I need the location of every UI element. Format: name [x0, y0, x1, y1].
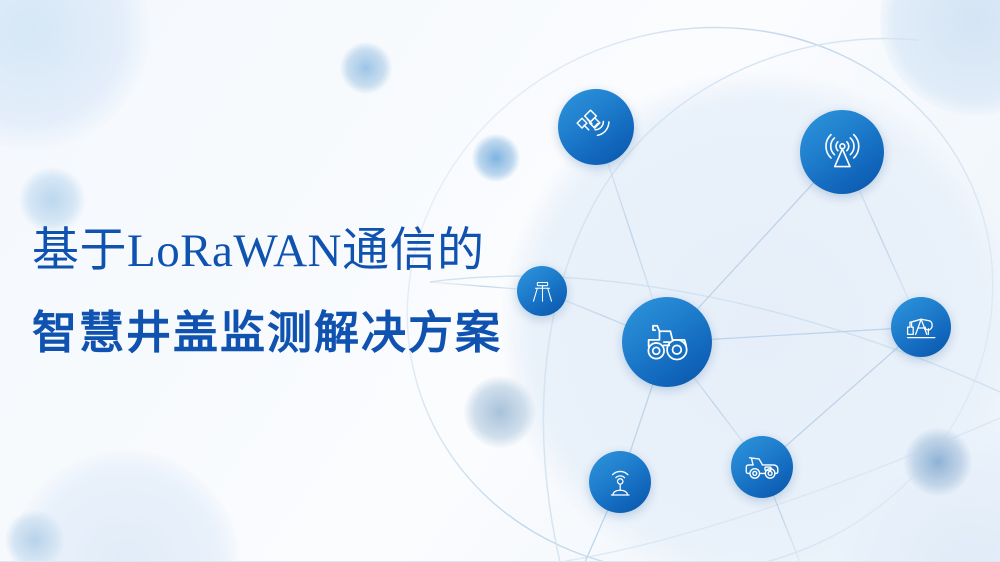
title-line-1: 基于LoRaWAN通信的: [32, 228, 502, 275]
node-antenna[interactable]: [800, 110, 884, 194]
survey-tripod-icon: [527, 276, 558, 307]
node-harvester[interactable]: [731, 436, 793, 498]
radio-tower-icon: [818, 128, 867, 177]
node-satellite[interactable]: [558, 89, 634, 165]
title-block: 基于LoRaWAN通信的 智慧井盖监测解决方案: [32, 228, 502, 355]
node-sensor[interactable]: [589, 451, 651, 513]
harvester-icon: [742, 447, 783, 488]
title-line-2: 智慧井盖监测解决方案: [32, 310, 502, 355]
tractor-icon: [641, 316, 693, 368]
node-pumpjack[interactable]: [891, 297, 951, 357]
link-pumpjack-harvester: [762, 327, 921, 467]
oil-pumpjack-icon: [902, 308, 940, 346]
slide-canvas: 基于LoRaWAN通信的 智慧井盖监测解决方案: [0, 0, 1000, 562]
node-tractor[interactable]: [622, 297, 712, 387]
satellite-icon: [574, 105, 618, 149]
node-tripod[interactable]: [517, 266, 567, 316]
wireless-sensor-icon: [601, 463, 639, 501]
